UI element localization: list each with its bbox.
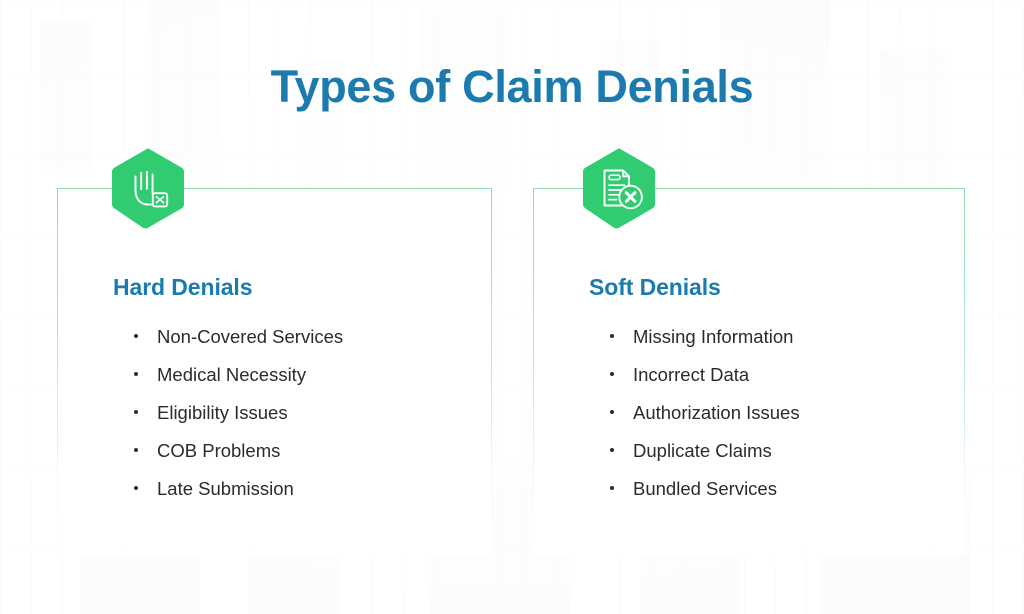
list-item: Authorization Issues xyxy=(609,402,800,423)
list-soft-denials: Missing Information Incorrect Data Autho… xyxy=(609,326,800,516)
bullet-dot-icon xyxy=(610,334,614,338)
bullet-dot-icon xyxy=(134,448,138,452)
list-item-label: Late Submission xyxy=(157,478,294,499)
bullet-dot-icon xyxy=(610,448,614,452)
list-item: Missing Information xyxy=(609,326,800,347)
list-item: COB Problems xyxy=(133,440,343,461)
list-item: Duplicate Claims xyxy=(609,440,800,461)
bullet-dot-icon xyxy=(134,486,138,490)
bullet-dot-icon xyxy=(134,372,138,376)
infographic-canvas: Types of Claim Denials Hard Denials Non-… xyxy=(0,0,1024,614)
card-heading-hard-denials: Hard Denials xyxy=(113,273,252,301)
hand-stop-block-icon xyxy=(111,147,185,229)
list-item-label: Incorrect Data xyxy=(633,364,749,385)
list-item-label: Duplicate Claims xyxy=(633,440,772,461)
list-item-label: Medical Necessity xyxy=(157,364,306,385)
bullet-dot-icon xyxy=(134,334,138,338)
list-item-label: Authorization Issues xyxy=(633,402,800,423)
list-item: Non-Covered Services xyxy=(133,326,343,347)
list-item-label: Bundled Services xyxy=(633,478,777,499)
bullet-dot-icon xyxy=(610,410,614,414)
list-item-label: Non-Covered Services xyxy=(157,326,343,347)
list-item: Late Submission xyxy=(133,478,343,499)
card-hard-denials: Hard Denials Non-Covered Services Medica… xyxy=(57,188,492,556)
list-item-label: COB Problems xyxy=(157,440,280,461)
card-border-left xyxy=(533,188,534,556)
card-heading-soft-denials: Soft Denials xyxy=(589,273,721,301)
page-title: Types of Claim Denials xyxy=(0,58,1024,115)
list-item-label: Missing Information xyxy=(633,326,793,347)
bullet-dot-icon xyxy=(134,410,138,414)
card-border-left xyxy=(57,188,58,556)
list-item-label: Eligibility Issues xyxy=(157,402,288,423)
document-rejected-icon xyxy=(582,147,656,229)
card-border-right xyxy=(964,188,965,556)
card-border-right xyxy=(491,188,492,556)
card-soft-denials: Soft Denials Missing Information Incorre… xyxy=(533,188,965,556)
bullet-dot-icon xyxy=(610,372,614,376)
list-hard-denials: Non-Covered Services Medical Necessity E… xyxy=(133,326,343,516)
bullet-dot-icon xyxy=(610,486,614,490)
list-item: Bundled Services xyxy=(609,478,800,499)
list-item: Medical Necessity xyxy=(133,364,343,385)
list-item: Incorrect Data xyxy=(609,364,800,385)
list-item: Eligibility Issues xyxy=(133,402,343,423)
